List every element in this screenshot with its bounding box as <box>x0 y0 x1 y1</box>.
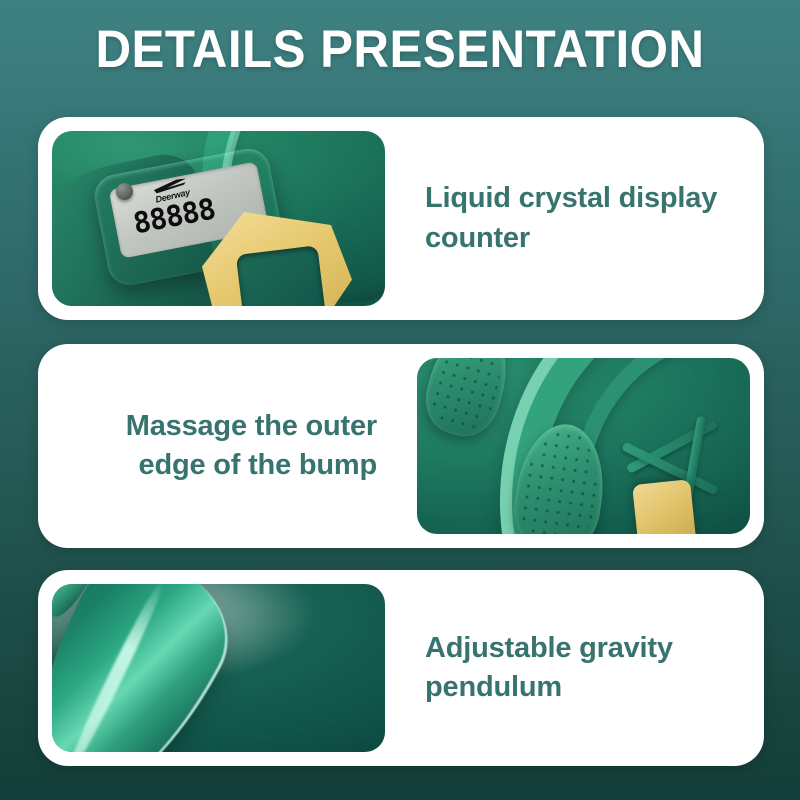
page-title: DETAILS PRESENTATION <box>28 22 772 78</box>
card-2-caption-text: Massage the outer edge of the bump <box>78 407 377 486</box>
detail-card-3: Adjustable gravity pendulum <box>38 570 764 766</box>
massage-bump <box>417 358 519 444</box>
card-1-caption-text: Liquid crystal display counter <box>425 179 724 258</box>
gold-pedal-cutout <box>236 245 326 306</box>
gold-accent-shape <box>632 479 698 534</box>
counter-reset-knob <box>116 183 133 200</box>
card-2-caption: Massage the outer edge of the bump <box>52 358 417 534</box>
card-3-caption: Adjustable gravity pendulum <box>385 584 750 752</box>
counter-closeup-photo: Deerway 88888 <box>52 131 385 306</box>
detail-card-1: Deerway 88888 Liquid crystal display cou… <box>38 117 764 320</box>
card-3-content: Adjustable gravity pendulum <box>52 584 750 752</box>
details-presentation-page: DETAILS PRESENTATION Deerway 88888 <box>0 0 800 800</box>
massage-bumps-photo <box>417 358 750 534</box>
card-3-caption-text: Adjustable gravity pendulum <box>425 629 724 708</box>
detail-card-2: Massage the outer edge of the bump <box>38 344 764 548</box>
card-2-content: Massage the outer edge of the bump <box>52 358 750 534</box>
pendulum-rim-light <box>52 584 252 752</box>
card-1-caption: Liquid crystal display counter <box>385 131 750 306</box>
lcd-digits: 88888 <box>131 207 153 240</box>
gravity-pendulum-photo <box>52 584 385 752</box>
card-1-content: Deerway 88888 Liquid crystal display cou… <box>52 131 750 306</box>
lcd-digit-group: 88888 <box>131 207 153 240</box>
